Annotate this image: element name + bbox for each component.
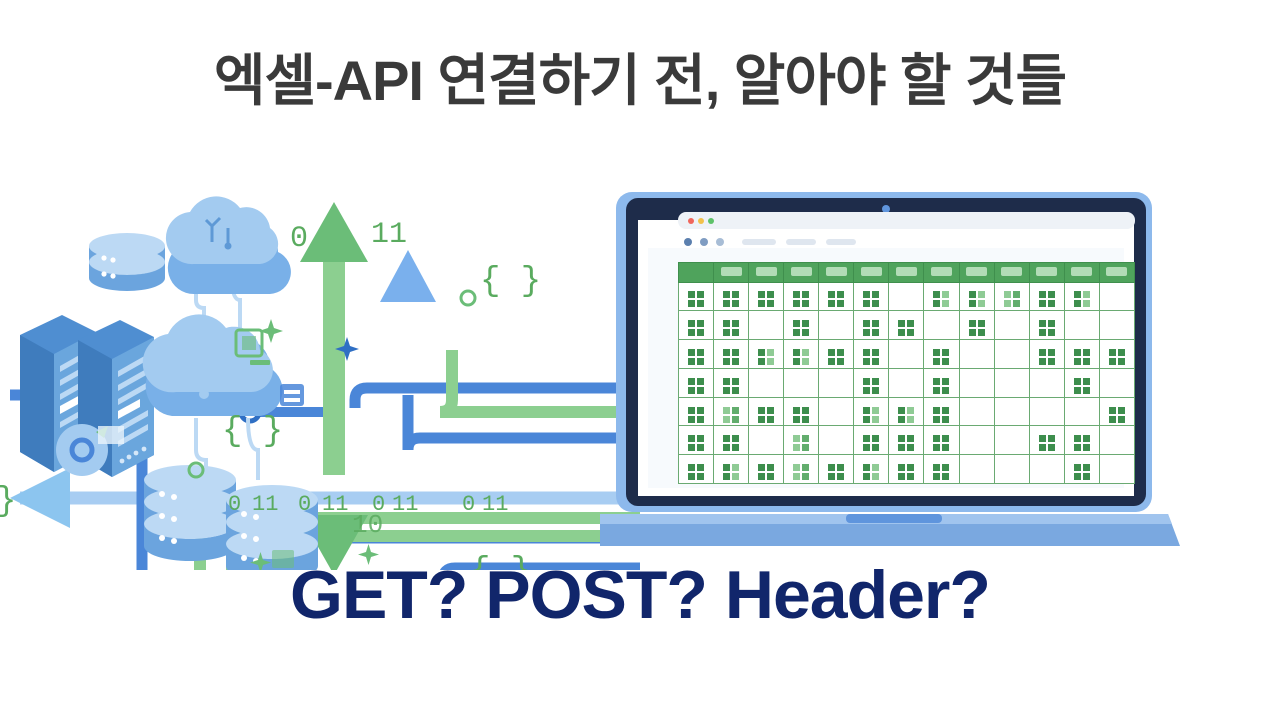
cell-dot-grid [1039, 435, 1055, 451]
spreadsheet-cell[interactable] [854, 311, 889, 340]
page-title-bottom: GET? POST? Header? [0, 556, 1280, 634]
spreadsheet-cell[interactable] [1064, 282, 1099, 311]
spreadsheet-cell[interactable] [994, 311, 1029, 340]
cell-dot-grid [863, 464, 879, 480]
spreadsheet-row [679, 282, 1135, 311]
spreadsheet-cell[interactable] [1029, 426, 1064, 455]
spreadsheet-cell[interactable] [959, 282, 994, 311]
spreadsheet-header-cell[interactable] [714, 263, 749, 283]
spreadsheet-cell[interactable] [784, 397, 819, 426]
spreadsheet-cell[interactable] [994, 426, 1029, 455]
spreadsheet-cell[interactable] [819, 311, 854, 340]
spreadsheet-header-cell[interactable] [679, 263, 714, 283]
spreadsheet-cell[interactable] [994, 397, 1029, 426]
cell-dot-grid [793, 464, 809, 480]
cell-dot-grid [969, 320, 985, 336]
spreadsheet-cell[interactable] [854, 397, 889, 426]
traffic-light-red-icon[interactable] [688, 218, 694, 224]
spreadsheet-cell[interactable] [714, 426, 749, 455]
cell-dot-grid [688, 349, 704, 365]
cell-dot-grid [758, 349, 774, 365]
spreadsheet-header-cell[interactable] [959, 263, 994, 283]
cell-dot-grid [933, 378, 949, 394]
browser-toolbar [684, 237, 1134, 247]
spreadsheet-cell[interactable] [959, 426, 994, 455]
spreadsheet-cell[interactable] [1064, 311, 1099, 340]
spreadsheet-cell[interactable] [1064, 455, 1099, 484]
spreadsheet-cell[interactable] [1029, 455, 1064, 484]
svg-text:11: 11 [392, 492, 418, 517]
spreadsheet-cell[interactable] [784, 340, 819, 369]
cell-dot-grid [793, 435, 809, 451]
spreadsheet-cell[interactable] [924, 282, 959, 311]
spreadsheet-cell[interactable] [924, 397, 959, 426]
spreadsheet-cell[interactable] [749, 311, 784, 340]
spreadsheet-cell[interactable] [819, 455, 854, 484]
spreadsheet-cell[interactable] [924, 311, 959, 340]
spreadsheet-cell[interactable] [924, 368, 959, 397]
cell-dot-grid [898, 435, 914, 451]
cell-dot-grid [1039, 320, 1055, 336]
cell-dot-grid [793, 349, 809, 365]
spreadsheet-cell[interactable] [854, 426, 889, 455]
spreadsheet-cell[interactable] [819, 368, 854, 397]
spreadsheet-cell[interactable] [679, 368, 714, 397]
spreadsheet-cell[interactable] [1099, 455, 1134, 484]
arrow-left-blue-icon [10, 468, 70, 528]
spreadsheet-cell[interactable] [784, 455, 819, 484]
spreadsheet-cell[interactable] [679, 455, 714, 484]
spreadsheet-cell[interactable] [784, 282, 819, 311]
cell-dot-grid [828, 349, 844, 365]
toolbar-dot-1-icon[interactable] [684, 238, 692, 246]
spreadsheet-cell[interactable] [994, 340, 1029, 369]
spreadsheet-cell[interactable] [889, 311, 924, 340]
svg-text:}: } [0, 483, 16, 521]
spreadsheet-cell[interactable] [959, 340, 994, 369]
header-label-placeholder [1001, 267, 1022, 276]
spreadsheet-cell[interactable] [994, 282, 1029, 311]
db-small-top-icon [89, 233, 165, 291]
spreadsheet-header-cell[interactable] [784, 263, 819, 283]
cell-dot-grid [688, 291, 704, 307]
spreadsheet-cell[interactable] [1099, 426, 1134, 455]
cell-dot-grid [1074, 349, 1090, 365]
svg-text:11: 11 [482, 492, 508, 517]
spreadsheet-cell[interactable] [679, 311, 714, 340]
cell-dot-grid [688, 435, 704, 451]
cell-dot-grid [863, 291, 879, 307]
cell-dot-grid [933, 435, 949, 451]
spreadsheet-cell[interactable] [994, 368, 1029, 397]
cell-dot-grid [863, 407, 879, 423]
cell-dot-grid [1074, 378, 1090, 394]
cell-dot-grid [1109, 407, 1125, 423]
svg-text:0: 0 [228, 492, 241, 517]
spreadsheet-cell[interactable] [679, 397, 714, 426]
spreadsheet-cell[interactable] [819, 426, 854, 455]
header-label-placeholder [791, 267, 812, 276]
spreadsheet-cell[interactable] [1029, 282, 1064, 311]
header-label-placeholder [826, 267, 847, 276]
spreadsheet-header-cell[interactable] [1029, 263, 1064, 283]
spreadsheet-cell[interactable] [959, 311, 994, 340]
spreadsheet-header-cell[interactable] [749, 263, 784, 283]
spreadsheet-cell[interactable] [889, 340, 924, 369]
header-label-placeholder [931, 267, 952, 276]
cell-dot-grid [1039, 349, 1055, 365]
spreadsheet-cell[interactable] [1099, 368, 1134, 397]
spreadsheet-cell[interactable] [889, 282, 924, 311]
spreadsheet-cell[interactable] [819, 282, 854, 311]
cell-dot-grid [1074, 435, 1090, 451]
cell-dot-grid [828, 291, 844, 307]
spreadsheet-cell[interactable] [679, 282, 714, 311]
cell-dot-grid [1109, 349, 1125, 365]
toolbar-dot-2-icon[interactable] [700, 238, 708, 246]
spreadsheet-cell[interactable] [889, 455, 924, 484]
spreadsheet-header-cell[interactable] [889, 263, 924, 283]
cell-dot-grid [863, 349, 879, 365]
laptop-notch [846, 514, 942, 523]
svg-text:0: 0 [290, 222, 308, 256]
spreadsheet-row [679, 455, 1135, 484]
svg-text:{ }: { } [480, 263, 541, 301]
cell-dot-grid [1039, 291, 1055, 307]
toolbar-dot-3-icon[interactable] [716, 238, 724, 246]
cell-dot-grid [933, 407, 949, 423]
spreadsheet-cell[interactable] [1029, 368, 1064, 397]
spreadsheet-cell[interactable] [924, 340, 959, 369]
cell-dot-grid [863, 435, 879, 451]
spreadsheet-cell[interactable] [749, 340, 784, 369]
cell-dot-grid [723, 378, 739, 394]
cell-dot-grid [1074, 291, 1090, 307]
spreadsheet-cell[interactable] [959, 368, 994, 397]
cell-dot-grid [758, 407, 774, 423]
spreadsheet-cell[interactable] [784, 426, 819, 455]
spreadsheet-cell[interactable] [1099, 282, 1134, 311]
spreadsheet-cell[interactable] [784, 368, 819, 397]
spreadsheet-cell[interactable] [889, 426, 924, 455]
toolbar-pill-1[interactable] [742, 239, 776, 245]
spreadsheet-cell[interactable] [819, 397, 854, 426]
spreadsheet-cell[interactable] [889, 368, 924, 397]
spreadsheet-cell[interactable] [924, 455, 959, 484]
spreadsheet-grid[interactable] [678, 262, 1135, 484]
spreadsheet-header-cell[interactable] [1064, 263, 1099, 283]
spreadsheet-cell[interactable] [1064, 340, 1099, 369]
spreadsheet-header-row [679, 263, 1135, 283]
cell-dot-grid [933, 291, 949, 307]
spreadsheet-viewport[interactable] [678, 262, 1135, 484]
spreadsheet-cell[interactable] [1099, 311, 1134, 340]
cell-dot-grid [723, 407, 739, 423]
svg-text:{ }: { } [222, 413, 283, 451]
spreadsheet-cell[interactable] [749, 455, 784, 484]
spreadsheet-cell[interactable] [819, 340, 854, 369]
spreadsheet-cell[interactable] [1029, 340, 1064, 369]
cell-dot-grid [828, 464, 844, 480]
arrow-up-green-icon [300, 202, 368, 475]
spreadsheet-cell[interactable] [994, 455, 1029, 484]
cell-dot-grid [969, 291, 985, 307]
traffic-light-green-icon[interactable] [708, 218, 714, 224]
toolbar-pill-2[interactable] [786, 239, 816, 245]
page-title-top: 엑셀-API 연결하기 전, 알아야 할 것들 [0, 36, 1280, 117]
browser-chrome-bar [678, 212, 1135, 229]
spreadsheet-cell[interactable] [1099, 397, 1134, 426]
svg-text:11: 11 [371, 218, 407, 252]
spreadsheet-cell[interactable] [714, 311, 749, 340]
svg-text:11: 11 [322, 492, 348, 517]
spreadsheet-cell[interactable] [679, 426, 714, 455]
spreadsheet-cell[interactable] [714, 397, 749, 426]
spreadsheet-header-cell[interactable] [854, 263, 889, 283]
cell-dot-grid [723, 349, 739, 365]
spreadsheet-row [679, 311, 1135, 340]
spreadsheet-cell[interactable] [889, 397, 924, 426]
cell-dot-grid [898, 320, 914, 336]
cell-dot-grid [723, 291, 739, 307]
spreadsheet-header-cell[interactable] [1099, 263, 1134, 283]
spreadsheet-header-cell[interactable] [819, 263, 854, 283]
header-label-placeholder [756, 267, 777, 276]
svg-text:0: 0 [462, 492, 475, 517]
cell-dot-grid [793, 291, 809, 307]
spreadsheet-cell[interactable] [749, 282, 784, 311]
spreadsheet-cell[interactable] [714, 368, 749, 397]
svg-text:0: 0 [298, 492, 311, 517]
cell-dot-grid [793, 407, 809, 423]
svg-text:10: 10 [352, 510, 383, 540]
spreadsheet-cell[interactable] [714, 340, 749, 369]
spreadsheet-cell[interactable] [1029, 311, 1064, 340]
cell-dot-grid [898, 407, 914, 423]
spreadsheet-header-cell[interactable] [924, 263, 959, 283]
spreadsheet-row [679, 397, 1135, 426]
spreadsheet-cell[interactable] [959, 455, 994, 484]
header-label-placeholder [966, 267, 987, 276]
cell-dot-grid [863, 378, 879, 394]
spreadsheet-cell[interactable] [1064, 397, 1099, 426]
spreadsheet-row [679, 426, 1135, 455]
cell-dot-grid [688, 378, 704, 394]
cell-dot-grid [793, 320, 809, 336]
spreadsheet-cell[interactable] [854, 368, 889, 397]
spreadsheet-cell[interactable] [1064, 368, 1099, 397]
cell-dot-grid [688, 407, 704, 423]
spreadsheet-cell[interactable] [1064, 426, 1099, 455]
spreadsheet-row [679, 340, 1135, 369]
header-label-placeholder [896, 267, 917, 276]
poster-canvas: 엑셀-API 연결하기 전, 알아야 할 것들 [0, 0, 1280, 720]
laptop-mockup [600, 190, 1180, 560]
spreadsheet-cell[interactable] [679, 340, 714, 369]
header-label-placeholder [721, 267, 742, 276]
cell-dot-grid [758, 291, 774, 307]
traffic-light-yellow-icon[interactable] [698, 218, 704, 224]
cell-dot-grid [758, 464, 774, 480]
cell-dot-grid [933, 349, 949, 365]
cell-dot-grid [688, 464, 704, 480]
svg-text:11: 11 [252, 492, 278, 517]
spreadsheet-cell[interactable] [714, 455, 749, 484]
cell-dot-grid [723, 435, 739, 451]
spreadsheet-cell[interactable] [749, 426, 784, 455]
spreadsheet-cell[interactable] [1099, 340, 1134, 369]
cell-dot-grid [723, 320, 739, 336]
spreadsheet-cell[interactable] [749, 368, 784, 397]
spreadsheet-cell[interactable] [749, 397, 784, 426]
spreadsheet-cell[interactable] [854, 455, 889, 484]
spreadsheet-cell[interactable] [714, 282, 749, 311]
spreadsheet-cell[interactable] [854, 282, 889, 311]
header-label-placeholder [861, 267, 882, 276]
cell-dot-grid [898, 464, 914, 480]
header-label-placeholder [1106, 267, 1127, 276]
spreadsheet-cell[interactable] [959, 397, 994, 426]
cell-dot-grid [1004, 291, 1020, 307]
spreadsheet-header-cell[interactable] [994, 263, 1029, 283]
cell-dot-grid [1074, 464, 1090, 480]
header-label-placeholder [1036, 267, 1057, 276]
spreadsheet-cell[interactable] [924, 426, 959, 455]
spreadsheet-cell[interactable] [854, 340, 889, 369]
cell-dot-grid [863, 320, 879, 336]
arrow-up-blue-icon [380, 250, 436, 302]
cell-dot-grid [688, 320, 704, 336]
header-label-placeholder [1071, 267, 1092, 276]
cloud-upper-icon [166, 196, 291, 294]
spreadsheet-cell[interactable] [784, 311, 819, 340]
spreadsheet-row [679, 368, 1135, 397]
cell-dot-grid [723, 464, 739, 480]
toolbar-pill-3[interactable] [826, 239, 856, 245]
cell-dot-grid [933, 464, 949, 480]
spreadsheet-cell[interactable] [1029, 397, 1064, 426]
db-stack-left-icon [144, 465, 236, 561]
